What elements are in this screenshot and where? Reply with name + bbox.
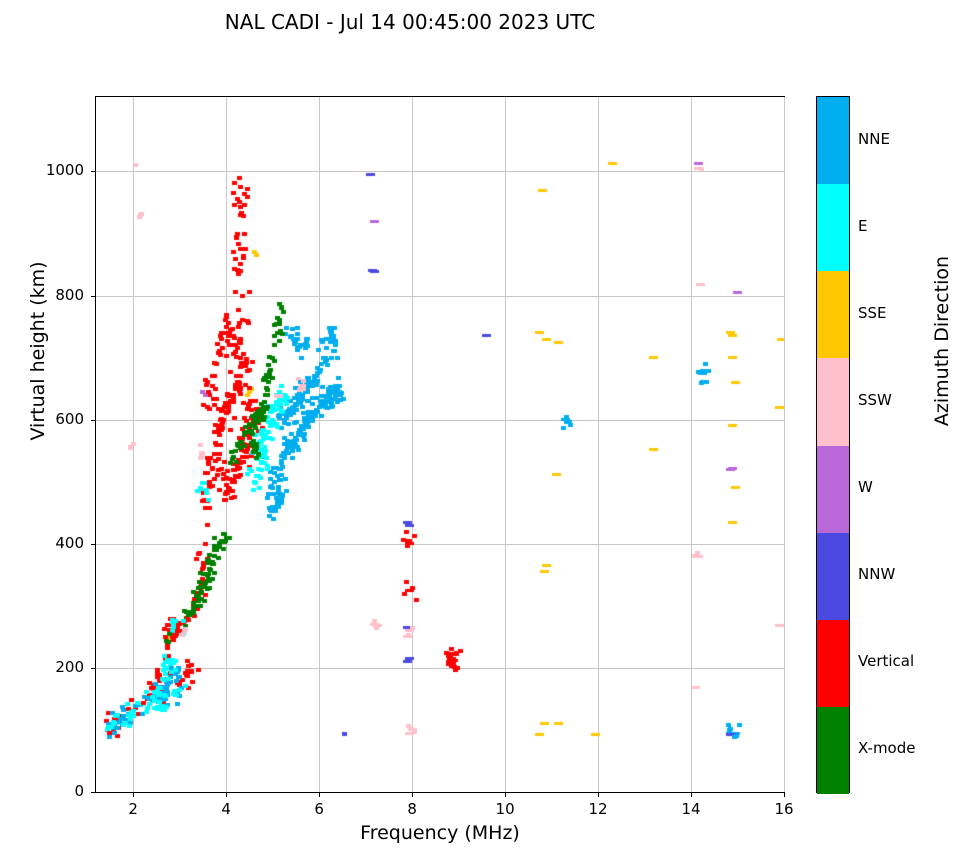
colorbar-segment-nnw xyxy=(817,533,849,620)
y-tick-label: 0 xyxy=(32,782,84,800)
x-tick-label: 6 xyxy=(299,800,339,818)
x-tick-label: 12 xyxy=(578,800,618,818)
x-axis-label: Frequency (MHz) xyxy=(95,822,785,844)
colorbar-label-w: W xyxy=(858,478,873,496)
x-tick xyxy=(226,792,227,797)
x-tick-label: 2 xyxy=(113,800,153,818)
colorbar-segment-nne xyxy=(817,97,849,184)
y-tick xyxy=(91,296,96,297)
x-tick xyxy=(319,792,320,797)
x-tick xyxy=(133,792,134,797)
chart-root: NAL CADI - Jul 14 00:45:00 2023 UTC 2468… xyxy=(0,0,958,857)
y-tick-label: 400 xyxy=(32,534,84,552)
page-title: NAL CADI - Jul 14 00:45:00 2023 UTC xyxy=(0,10,820,34)
y-tick-label: 1000 xyxy=(32,161,84,179)
colorbar-segment-e xyxy=(817,184,849,271)
colorbar-label-nne: NNE xyxy=(858,130,890,148)
y-tick xyxy=(91,668,96,669)
colorbar-segment-ssw xyxy=(817,358,849,445)
x-tick xyxy=(412,792,413,797)
x-tick-label: 10 xyxy=(485,800,525,818)
x-tick xyxy=(598,792,599,797)
colorbar xyxy=(816,96,850,793)
x-tick-label: 4 xyxy=(206,800,246,818)
colorbar-title: Azimuth Direction xyxy=(931,211,953,471)
x-tick xyxy=(505,792,506,797)
colorbar-label-nnw: NNW xyxy=(858,565,895,583)
grid-line-vertical xyxy=(784,97,785,792)
colorbar-segment-sse xyxy=(817,271,849,358)
colorbar-segment-x-mode xyxy=(817,707,849,794)
y-tick xyxy=(91,420,96,421)
x-tick xyxy=(784,792,785,797)
y-axis-label: Virtual height (km) xyxy=(27,221,49,481)
y-tick-label: 200 xyxy=(32,658,84,676)
x-tick-label: 14 xyxy=(671,800,711,818)
y-tick xyxy=(91,544,96,545)
colorbar-label-vertical: Vertical xyxy=(858,652,914,670)
ionogram-scatter-canvas xyxy=(96,97,784,792)
colorbar-segment-w xyxy=(817,446,849,533)
y-tick xyxy=(91,792,96,793)
y-tick xyxy=(91,171,96,172)
colorbar-label-sse: SSE xyxy=(858,304,887,322)
colorbar-label-e: E xyxy=(858,217,867,235)
colorbar-segment-vertical xyxy=(817,620,849,707)
colorbar-label-x-mode: X-mode xyxy=(858,739,915,757)
x-tick-label: 8 xyxy=(392,800,432,818)
colorbar-label-ssw: SSW xyxy=(858,391,892,409)
x-tick-label: 16 xyxy=(764,800,804,818)
x-tick xyxy=(691,792,692,797)
